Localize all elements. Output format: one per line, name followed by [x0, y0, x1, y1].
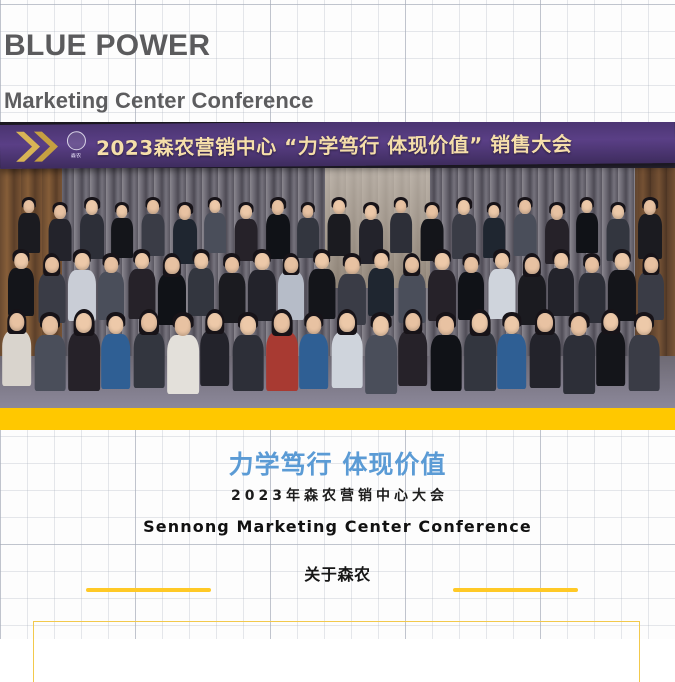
person-body: [368, 268, 394, 316]
person-head: [209, 200, 220, 213]
person-head: [585, 257, 599, 274]
person-body: [497, 334, 527, 389]
person-head: [148, 200, 160, 214]
subheadline-english: Sennong Marketing Center Conference: [0, 517, 675, 536]
page-subtitle: Marketing Center Conference: [4, 90, 314, 112]
person: [576, 196, 598, 255]
person-head: [373, 316, 389, 336]
person-head: [255, 253, 270, 270]
person-head: [488, 205, 499, 218]
person-head: [438, 316, 454, 335]
person: [563, 311, 595, 396]
section-rule-right: [453, 588, 578, 592]
person-head: [76, 313, 92, 333]
section-title: 关于森农: [0, 566, 675, 584]
person-head: [55, 205, 67, 219]
section-heading: 关于森农: [0, 566, 675, 600]
person-body: [2, 331, 32, 386]
content-panel: [33, 621, 640, 682]
person-body: [431, 335, 462, 392]
person-body: [68, 332, 100, 391]
person-head: [241, 205, 253, 219]
person-body: [514, 214, 537, 256]
person-body: [233, 335, 264, 392]
person-head: [75, 253, 90, 270]
person-head: [175, 316, 191, 336]
person-head: [495, 253, 509, 270]
person-head: [458, 200, 470, 215]
person-head: [345, 257, 360, 274]
person-head: [427, 205, 439, 219]
person-head: [108, 316, 123, 334]
person-head: [23, 200, 34, 213]
person: [134, 308, 165, 391]
person-head: [405, 313, 420, 331]
person-head: [45, 257, 59, 274]
people-group: /* rendered by generator below */: [0, 122, 675, 408]
person-head: [104, 257, 118, 273]
person-head: [86, 200, 98, 215]
person-head: [240, 316, 256, 335]
person: [390, 196, 412, 255]
person: [368, 248, 394, 318]
person-head: [525, 257, 540, 274]
person-head: [554, 253, 568, 269]
person-head: [315, 253, 329, 270]
person-head: [135, 253, 149, 270]
person-body: [629, 335, 660, 392]
person-head: [374, 253, 388, 269]
person-head: [14, 253, 28, 269]
person-body: [530, 332, 561, 389]
person-body: [101, 334, 131, 389]
person-head: [302, 205, 313, 218]
person-head: [613, 205, 625, 219]
person-head: [284, 257, 298, 273]
person-body: [563, 335, 595, 394]
person-head: [537, 313, 553, 332]
person-body: [200, 331, 230, 386]
person-head: [520, 200, 532, 214]
person-head: [571, 316, 587, 336]
person-body: [464, 332, 496, 391]
person-head: [395, 200, 406, 213]
person-head: [306, 316, 321, 334]
person-head: [42, 316, 58, 335]
person: [167, 311, 199, 396]
person: [200, 308, 230, 388]
person: [332, 308, 363, 391]
person-head: [165, 257, 180, 274]
person-body: [35, 335, 66, 392]
person-body: [398, 331, 428, 386]
section-rule-left: [86, 588, 211, 592]
person-head: [581, 200, 592, 213]
person-body: [332, 332, 363, 389]
person-head: [551, 205, 563, 220]
person-head: [339, 313, 355, 332]
person: [431, 311, 462, 394]
person: [35, 311, 66, 394]
person: [308, 248, 335, 321]
person-head: [274, 313, 290, 333]
person-head: [435, 253, 450, 270]
person: [596, 308, 626, 388]
person: [464, 308, 496, 393]
person-head: [207, 313, 222, 331]
person-body: [299, 334, 329, 389]
person: [398, 308, 428, 388]
headline-chinese: 力学笃行 体现价值: [0, 452, 675, 477]
person-head: [644, 200, 656, 215]
subheadline-chinese: 2023年森农营销中心大会: [0, 489, 675, 503]
person-head: [272, 200, 284, 215]
person: [2, 308, 32, 388]
person: [530, 308, 561, 391]
person: [266, 308, 298, 393]
person-head: [179, 205, 191, 220]
person: [204, 196, 226, 255]
page-title: BLUE POWER: [4, 31, 210, 61]
person-head: [504, 316, 519, 334]
person-head: [334, 200, 346, 214]
person-head: [116, 205, 127, 218]
person-head: [9, 313, 24, 331]
person: [514, 196, 537, 258]
person-head: [644, 257, 658, 273]
person: [68, 308, 100, 393]
person-body: [365, 335, 397, 394]
person-head: [603, 313, 618, 331]
person-body: [266, 332, 298, 391]
person: [299, 311, 329, 391]
person-body: [134, 332, 165, 389]
person-head: [615, 253, 630, 270]
person-head: [365, 205, 377, 220]
person-head: [194, 253, 208, 269]
person: [365, 311, 397, 396]
person: [233, 311, 264, 394]
person-head: [225, 257, 239, 274]
person-head: [464, 257, 478, 273]
person-head: [472, 313, 488, 333]
person-body: [596, 331, 626, 386]
person: [18, 196, 40, 255]
person-head: [141, 313, 157, 332]
person: [101, 311, 131, 391]
group-photo: 森农 2023森农营销中心 “力学笃行 体现价值” 销售大会 /* render…: [0, 122, 675, 408]
person: [629, 311, 660, 394]
person: [497, 311, 527, 391]
person-head: [636, 316, 652, 335]
yellow-divider-bar: [0, 408, 675, 430]
person-body: [167, 335, 199, 394]
person-body: [576, 213, 598, 253]
person: [638, 196, 662, 260]
person-head: [405, 257, 419, 274]
